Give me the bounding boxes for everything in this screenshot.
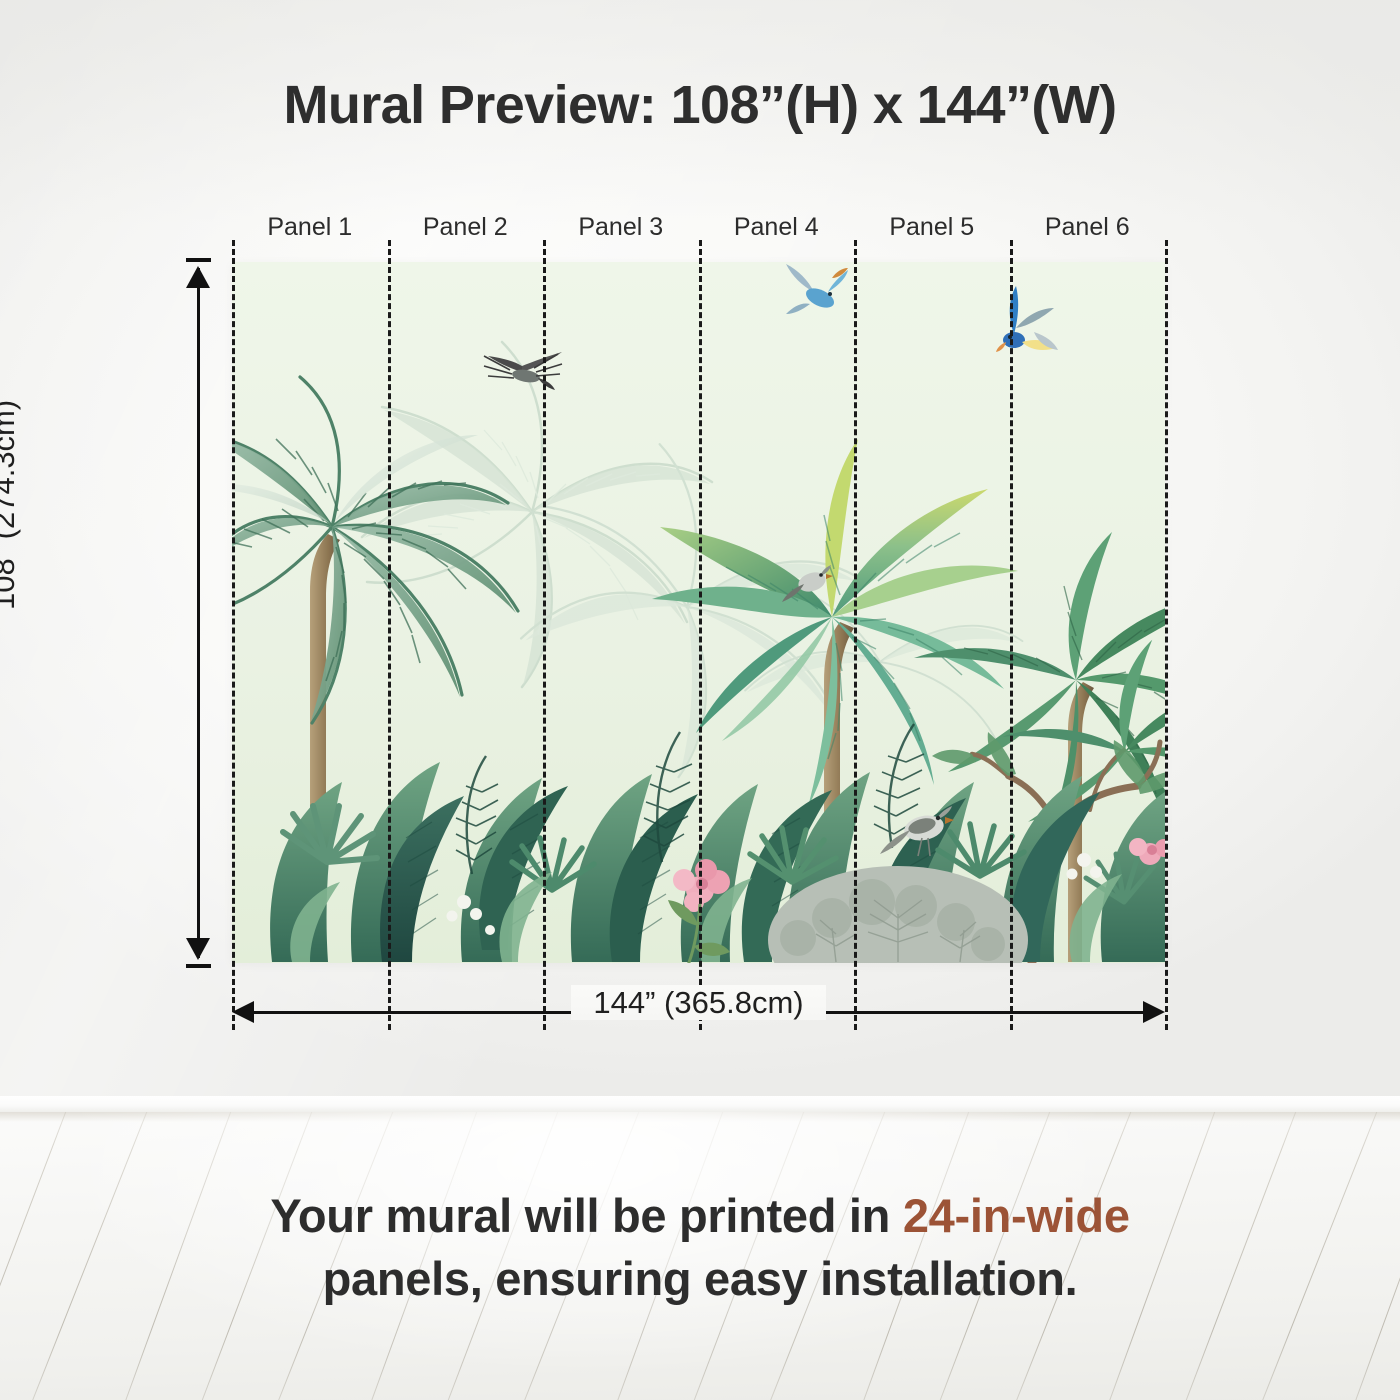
height-cap-bottom (186, 964, 211, 968)
height-dimension-arrow (176, 258, 222, 968)
height-arrowhead-down (186, 938, 210, 960)
panel-label-6: Panel 6 (1010, 213, 1165, 242)
width-dimension-label: 144” (365.8cm) (232, 985, 1165, 1021)
panel-label-4: Panel 4 (699, 213, 854, 242)
panel-label-3: Panel 3 (543, 213, 698, 242)
page-title: Mural Preview: 108”(H) x 144”(W) (0, 74, 1400, 136)
panel-label-2: Panel 2 (388, 213, 543, 242)
panel-seam-5 (1010, 240, 1013, 1030)
panel-seam-3 (699, 240, 702, 1030)
caption-line2: panels, ensuring easy installation. (323, 1252, 1078, 1305)
mural-edge-left (232, 240, 235, 1030)
mural-edge-right (1165, 240, 1168, 1030)
caption-line1-before: Your mural will be printed in (270, 1189, 903, 1242)
panel-label-1: Panel 1 (232, 213, 387, 242)
height-dimension-label: 108” (274.3cm) (0, 400, 22, 610)
height-cap-top (186, 258, 211, 262)
panel-seam-1 (388, 240, 391, 1030)
panel-seam-2 (543, 240, 546, 1030)
width-dimension-text: 144” (365.8cm) (571, 985, 825, 1020)
installation-caption: Your mural will be printed in 24-in-wide… (0, 1185, 1400, 1310)
caption-accent-panel-width: 24-in-wide (903, 1189, 1130, 1242)
panel-label-5: Panel 5 (854, 213, 1009, 242)
height-arrowhead-up (186, 266, 210, 288)
height-arrow-shaft (197, 268, 200, 958)
panel-seam-4 (854, 240, 857, 1030)
